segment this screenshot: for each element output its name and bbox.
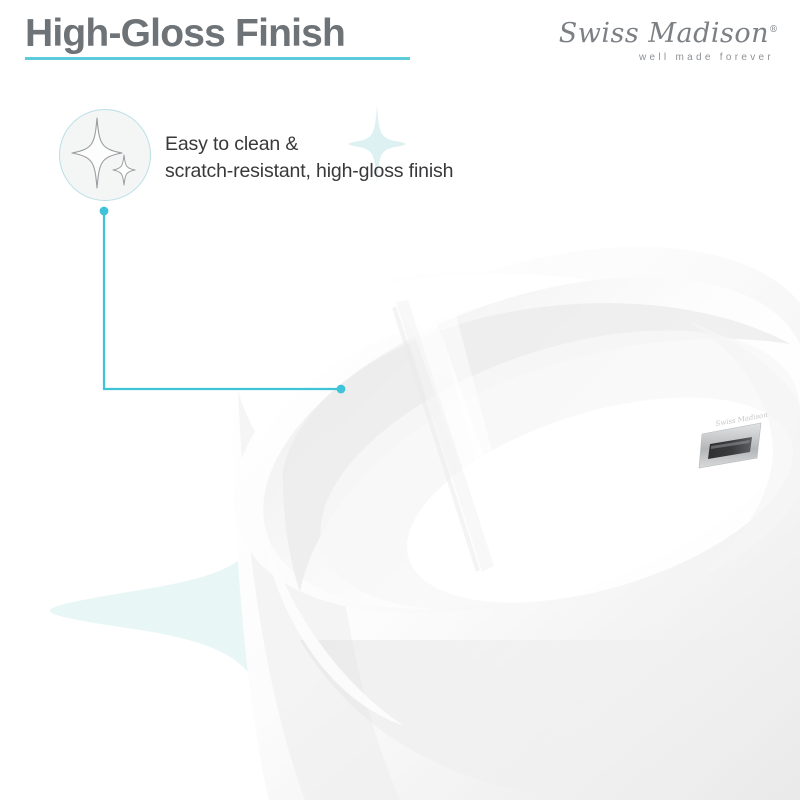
callout-end-dot: [337, 385, 346, 394]
sparkle-watermark-small-mid: [540, 260, 640, 420]
sparkle-shine-icon: [60, 110, 149, 199]
page-title: High-Gloss Finish: [25, 11, 345, 57]
chrome-overflow-drain-group: [699, 423, 761, 468]
svg-text:Swiss Madison: Swiss Madison: [715, 411, 769, 428]
brand-wordmark-text: Swiss Madison: [559, 18, 769, 49]
registered-trademark-icon: ®: [769, 25, 778, 35]
feature-description: Easy to clean & scratch-resistant, high-…: [165, 131, 495, 185]
sparkle-watermark-large: [20, 430, 540, 800]
feature-text-line-2: scratch-resistant, high-gloss finish: [165, 158, 495, 185]
feature-icon-badge: [59, 109, 151, 201]
brand-logo: Swiss Madison® well made forever: [538, 14, 778, 68]
brand-tagline: well made forever: [538, 51, 774, 64]
title-underline-rule: [25, 57, 410, 60]
feature-text-line-1: Easy to clean &: [165, 131, 495, 158]
brand-wordmark: Swiss Madison®: [538, 14, 778, 50]
callout-start-dot: [100, 207, 109, 216]
product-feature-graphic: Swiss Madison High-Gloss Finish Swiss Ma…: [0, 0, 800, 800]
